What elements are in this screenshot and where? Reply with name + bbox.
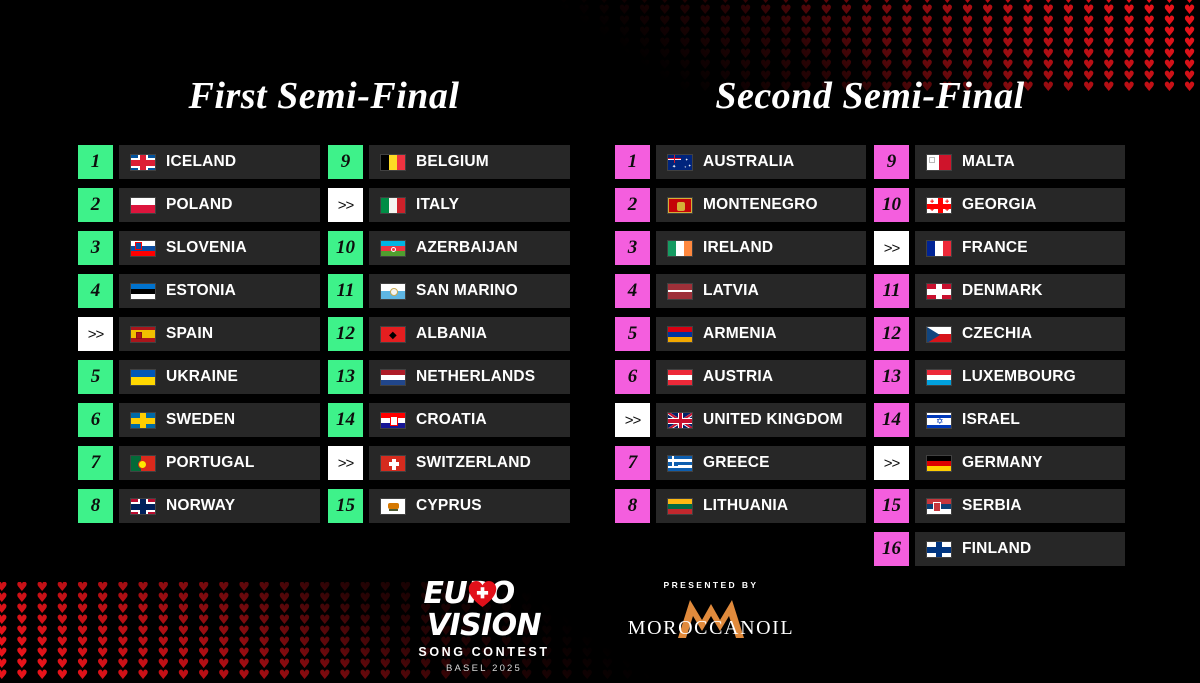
running-order-row[interactable]: >>GERMANY <box>874 446 1125 480</box>
running-order-number: 13 <box>874 360 909 394</box>
running-order-row[interactable]: 12CZECHIA <box>874 317 1125 351</box>
autoqualifier-badge: >> <box>874 231 909 265</box>
country-entry[interactable]: SWITZERLAND <box>369 446 570 480</box>
flag-icon-croatia <box>380 412 406 429</box>
country-entry[interactable]: FINLAND <box>915 532 1125 566</box>
running-order-number: 4 <box>78 274 113 308</box>
country-name: AUSTRALIA <box>703 153 794 171</box>
country-name: ARMENIA <box>703 325 777 343</box>
running-order-number: 10 <box>328 231 363 265</box>
country-name: DENMARK <box>962 282 1043 300</box>
running-order-number: 1 <box>78 145 113 179</box>
country-entry[interactable]: UKRAINE <box>119 360 320 394</box>
country-entry[interactable]: GERMANY <box>915 446 1125 480</box>
running-order-number: 3 <box>615 231 650 265</box>
running-order-number: 12 <box>328 317 363 351</box>
running-order-row[interactable]: 13LUXEMBOURG <box>874 360 1125 394</box>
running-order-row[interactable]: 14CROATIA <box>328 403 570 437</box>
running-order-number: 5 <box>615 317 650 351</box>
flag-icon-serbia <box>926 498 952 515</box>
country-entry[interactable]: NETHERLANDS <box>369 360 570 394</box>
running-order-number: 11 <box>328 274 363 308</box>
running-order-number: 16 <box>874 532 909 566</box>
sponsor-block: PRESENTED BY MOROCCANOIL <box>616 578 806 642</box>
flag-icon-ireland <box>667 240 693 257</box>
flag-icon-georgia: ✚✚✚✚ <box>926 197 952 214</box>
running-order-number: 12 <box>874 317 909 351</box>
running-order-row[interactable]: 4LATVIA <box>615 274 866 308</box>
running-order-number: 4 <box>615 274 650 308</box>
flag-icon-israel: ✡ <box>926 412 952 429</box>
country-name: SWITZERLAND <box>416 454 531 472</box>
running-order-row[interactable]: 2POLAND <box>78 188 320 222</box>
sponsor-name: MOROCCANOIL <box>616 617 806 640</box>
country-name: ESTONIA <box>166 282 236 300</box>
running-order-number: 2 <box>78 188 113 222</box>
running-order-row[interactable]: 11SAN MARINO <box>328 274 570 308</box>
eurovision-wordmark: EUROVISION <box>394 578 574 642</box>
country-entry[interactable]: SERBIA <box>915 489 1125 523</box>
running-order-row[interactable]: 1ICELAND <box>78 145 320 179</box>
eurovision-subtitle: SONG CONTEST <box>394 645 574 659</box>
country-name: ISRAEL <box>962 411 1020 429</box>
country-name: NORWAY <box>166 497 235 515</box>
flag-icon-portugal <box>130 455 156 472</box>
country-entry[interactable]: AZERBAIJAN <box>369 231 570 265</box>
flag-icon-azerbaijan <box>380 240 406 257</box>
country-name: GREECE <box>703 454 770 472</box>
flag-icon-albania: ◆ <box>380 326 406 343</box>
country-entry[interactable]: FRANCE <box>915 231 1125 265</box>
country-name: NETHERLANDS <box>416 368 535 386</box>
country-name: MONTENEGRO <box>703 196 818 214</box>
running-order-row[interactable]: 12◆ALBANIA <box>328 317 570 351</box>
country-entry[interactable]: ICELAND <box>119 145 320 179</box>
running-order-number: 9 <box>874 145 909 179</box>
running-order-row[interactable]: 6SWEDEN <box>78 403 320 437</box>
country-name: BELGIUM <box>416 153 489 171</box>
country-name: LUXEMBOURG <box>962 368 1076 386</box>
running-order-row[interactable]: >>SWITZERLAND <box>328 446 570 480</box>
flag-icon-armenia <box>667 326 693 343</box>
running-order-number: 15 <box>874 489 909 523</box>
country-entry[interactable]: ✚✚✚✚GEORGIA <box>915 188 1125 222</box>
country-name: SAN MARINO <box>416 282 518 300</box>
country-name: FRANCE <box>962 239 1028 257</box>
country-entry[interactable]: ✡ISRAEL <box>915 403 1125 437</box>
running-order-number: 3 <box>78 231 113 265</box>
running-order-row[interactable]: 7GREECE <box>615 446 866 480</box>
page-title-second-semi-final: Second Semi-Final <box>615 74 1125 118</box>
autoqualifier-badge: >> <box>78 317 113 351</box>
country-entry[interactable]: LATVIA <box>656 274 866 308</box>
country-name: ICELAND <box>166 153 236 171</box>
running-order-row[interactable]: 9MALTA <box>874 145 1125 179</box>
running-order-row[interactable]: 3IRELAND <box>615 231 866 265</box>
running-order-number: 6 <box>615 360 650 394</box>
country-name: AZERBAIJAN <box>416 239 518 257</box>
flag-icon-czechia <box>926 326 952 343</box>
running-order-row[interactable]: 6AUSTRIA <box>615 360 866 394</box>
column-semi1-col2: 9BELGIUM>>ITALY10AZERBAIJAN11SAN MARINO1… <box>328 145 570 523</box>
running-order-number: 7 <box>78 446 113 480</box>
flag-icon-sweden <box>130 412 156 429</box>
panel-first-semi-final: First Semi-Final 1ICELAND2POLAND3SLOVENI… <box>78 0 570 523</box>
country-entry[interactable]: MONTENEGRO <box>656 188 866 222</box>
running-order-number: 14 <box>874 403 909 437</box>
country-name: IRELAND <box>703 239 773 257</box>
autoqualifier-badge: >> <box>874 446 909 480</box>
footer: EUROVISION SONG CONTEST BASEL 2025 PRESE… <box>0 578 1200 674</box>
flag-icon-greece <box>667 455 693 472</box>
flag-icon-finland <box>926 541 952 558</box>
flag-icon-malta <box>926 154 952 171</box>
running-order-number: 2 <box>615 188 650 222</box>
eurovision-word-vision: VISION <box>427 608 541 643</box>
country-entry[interactable]: ◆ALBANIA <box>369 317 570 351</box>
running-order-number: 9 <box>328 145 363 179</box>
running-order-row[interactable]: 14✡ISRAEL <box>874 403 1125 437</box>
country-entry[interactable]: ARMENIA <box>656 317 866 351</box>
running-order-row[interactable]: 15SERBIA <box>874 489 1125 523</box>
country-entry[interactable]: CROATIA <box>369 403 570 437</box>
country-entry[interactable]: NORWAY <box>119 489 320 523</box>
column-semi1-col1: 1ICELAND2POLAND3SLOVENIA4ESTONIA>>SPAIN5… <box>78 145 320 523</box>
presented-by-label: PRESENTED BY <box>616 580 806 590</box>
running-order-row[interactable]: 10AZERBAIJAN <box>328 231 570 265</box>
flag-icon-australia: ✦✦✦✦ <box>667 154 693 171</box>
flag-icon-cyprus <box>380 498 406 515</box>
running-order-row[interactable]: 16FINLAND <box>874 532 1125 566</box>
running-order-row[interactable]: 10✚✚✚✚GEORGIA <box>874 188 1125 222</box>
running-order-row[interactable]: >>FRANCE <box>874 231 1125 265</box>
running-order-row[interactable]: >>SPAIN <box>78 317 320 351</box>
country-name: ITALY <box>416 196 459 214</box>
running-order-row[interactable]: 13NETHERLANDS <box>328 360 570 394</box>
country-name: LITHUANIA <box>703 497 788 515</box>
running-order-row[interactable]: 5UKRAINE <box>78 360 320 394</box>
flag-icon-sanmarino <box>380 283 406 300</box>
flag-icon-belgium <box>380 154 406 171</box>
flag-icon-denmark <box>926 283 952 300</box>
running-order-row[interactable]: 11DENMARK <box>874 274 1125 308</box>
flag-icon-iceland <box>130 154 156 171</box>
country-entry[interactable]: CYPRUS <box>369 489 570 523</box>
country-entry[interactable]: ✦✦✦✦AUSTRALIA <box>656 145 866 179</box>
flag-icon-lithuania <box>667 498 693 515</box>
country-name: MALTA <box>962 153 1015 171</box>
country-entry[interactable]: LUXEMBOURG <box>915 360 1125 394</box>
country-name: LATVIA <box>703 282 759 300</box>
flag-icon-italy <box>380 197 406 214</box>
country-entry[interactable]: GREECE <box>656 446 866 480</box>
country-name: CYPRUS <box>416 497 482 515</box>
country-entry[interactable]: SPAIN <box>119 317 320 351</box>
running-order-row[interactable]: 8NORWAY <box>78 489 320 523</box>
country-name: ALBANIA <box>416 325 487 343</box>
country-entry[interactable]: AUSTRIA <box>656 360 866 394</box>
country-entry[interactable]: ESTONIA <box>119 274 320 308</box>
country-name: UKRAINE <box>166 368 238 386</box>
running-order-graphic: First Semi-Final 1ICELAND2POLAND3SLOVENI… <box>0 0 1200 675</box>
running-order-number: 5 <box>78 360 113 394</box>
flag-icon-slovenia <box>130 240 156 257</box>
running-order-row[interactable]: 9BELGIUM <box>328 145 570 179</box>
flag-icon-spain <box>130 326 156 343</box>
country-entry[interactable]: CZECHIA <box>915 317 1125 351</box>
flag-icon-france <box>926 240 952 257</box>
country-name: SERBIA <box>962 497 1022 515</box>
flag-icon-austria <box>667 369 693 386</box>
running-order-number: 13 <box>328 360 363 394</box>
eurovision-logo: EUROVISION SONG CONTEST BASEL 2025 <box>394 578 574 674</box>
running-order-row[interactable]: 8LITHUANIA <box>615 489 866 523</box>
country-entry[interactable]: SWEDEN <box>119 403 320 437</box>
running-order-row[interactable]: 3SLOVENIA <box>78 231 320 265</box>
running-order-number: 10 <box>874 188 909 222</box>
country-name: FINLAND <box>962 540 1031 558</box>
flag-icon-montenegro <box>667 197 693 214</box>
flag-icon-uk <box>667 412 693 429</box>
country-entry[interactable]: DENMARK <box>915 274 1125 308</box>
flag-icon-netherlands <box>380 369 406 386</box>
country-entry[interactable]: LITHUANIA <box>656 489 866 523</box>
flag-icon-switzerland <box>380 455 406 472</box>
country-entry[interactable]: PORTUGAL <box>119 446 320 480</box>
running-order-row[interactable]: 4ESTONIA <box>78 274 320 308</box>
running-order-number: 11 <box>874 274 909 308</box>
country-name: CZECHIA <box>962 325 1032 343</box>
running-order-row[interactable]: >>ITALY <box>328 188 570 222</box>
page-title-first-semi-final: First Semi-Final <box>78 74 570 118</box>
flag-icon-poland <box>130 197 156 214</box>
heart-icon <box>467 579 498 608</box>
running-order-number: 15 <box>328 489 363 523</box>
column-semi2-col2: 9MALTA10✚✚✚✚GEORGIA>>FRANCE11DENMARK12CZ… <box>874 145 1125 566</box>
country-name: PORTUGAL <box>166 454 255 472</box>
flag-icon-latvia <box>667 283 693 300</box>
flag-icon-ukraine <box>130 369 156 386</box>
country-name: SPAIN <box>166 325 213 343</box>
autoqualifier-badge: >> <box>328 188 363 222</box>
running-order-number: 14 <box>328 403 363 437</box>
country-entry[interactable]: POLAND <box>119 188 320 222</box>
country-entry[interactable]: SAN MARINO <box>369 274 570 308</box>
running-order-row[interactable]: 5ARMENIA <box>615 317 866 351</box>
autoqualifier-badge: >> <box>328 446 363 480</box>
running-order-row[interactable]: 2MONTENEGRO <box>615 188 866 222</box>
country-entry[interactable]: SLOVENIA <box>119 231 320 265</box>
running-order-number: 6 <box>78 403 113 437</box>
running-order-number: 7 <box>615 446 650 480</box>
country-entry[interactable]: UNITED KINGDOM <box>656 403 866 437</box>
country-entry[interactable]: BELGIUM <box>369 145 570 179</box>
running-order-number: 8 <box>615 489 650 523</box>
country-entry[interactable]: MALTA <box>915 145 1125 179</box>
running-order-number: 8 <box>78 489 113 523</box>
country-name: SWEDEN <box>166 411 235 429</box>
country-entry[interactable]: ITALY <box>369 188 570 222</box>
flag-icon-norway <box>130 498 156 515</box>
eurovision-host-year: BASEL 2025 <box>394 663 574 674</box>
running-order-row[interactable]: 1✦✦✦✦AUSTRALIA <box>615 145 866 179</box>
flag-icon-luxembourg <box>926 369 952 386</box>
country-name: GERMANY <box>962 454 1043 472</box>
running-order-number: 1 <box>615 145 650 179</box>
column-semi2-col1: 1✦✦✦✦AUSTRALIA2MONTENEGRO3IRELAND4LATVIA… <box>615 145 866 566</box>
country-name: GEORGIA <box>962 196 1037 214</box>
country-name: SLOVENIA <box>166 239 247 257</box>
country-name: CROATIA <box>416 411 487 429</box>
autoqualifier-badge: >> <box>615 403 650 437</box>
running-order-row[interactable]: 15CYPRUS <box>328 489 570 523</box>
running-order-row[interactable]: 7PORTUGAL <box>78 446 320 480</box>
flag-icon-germany <box>926 455 952 472</box>
country-name: UNITED KINGDOM <box>703 411 843 429</box>
country-entry[interactable]: IRELAND <box>656 231 866 265</box>
panel-second-semi-final: Second Semi-Final 1✦✦✦✦AUSTRALIA2MONTENE… <box>615 0 1125 566</box>
country-name: AUSTRIA <box>703 368 773 386</box>
second-semi-final-columns: 1✦✦✦✦AUSTRALIA2MONTENEGRO3IRELAND4LATVIA… <box>615 145 1125 566</box>
country-name: POLAND <box>166 196 233 214</box>
running-order-row[interactable]: >>UNITED KINGDOM <box>615 403 866 437</box>
first-semi-final-columns: 1ICELAND2POLAND3SLOVENIA4ESTONIA>>SPAIN5… <box>78 145 570 523</box>
flag-icon-estonia <box>130 283 156 300</box>
